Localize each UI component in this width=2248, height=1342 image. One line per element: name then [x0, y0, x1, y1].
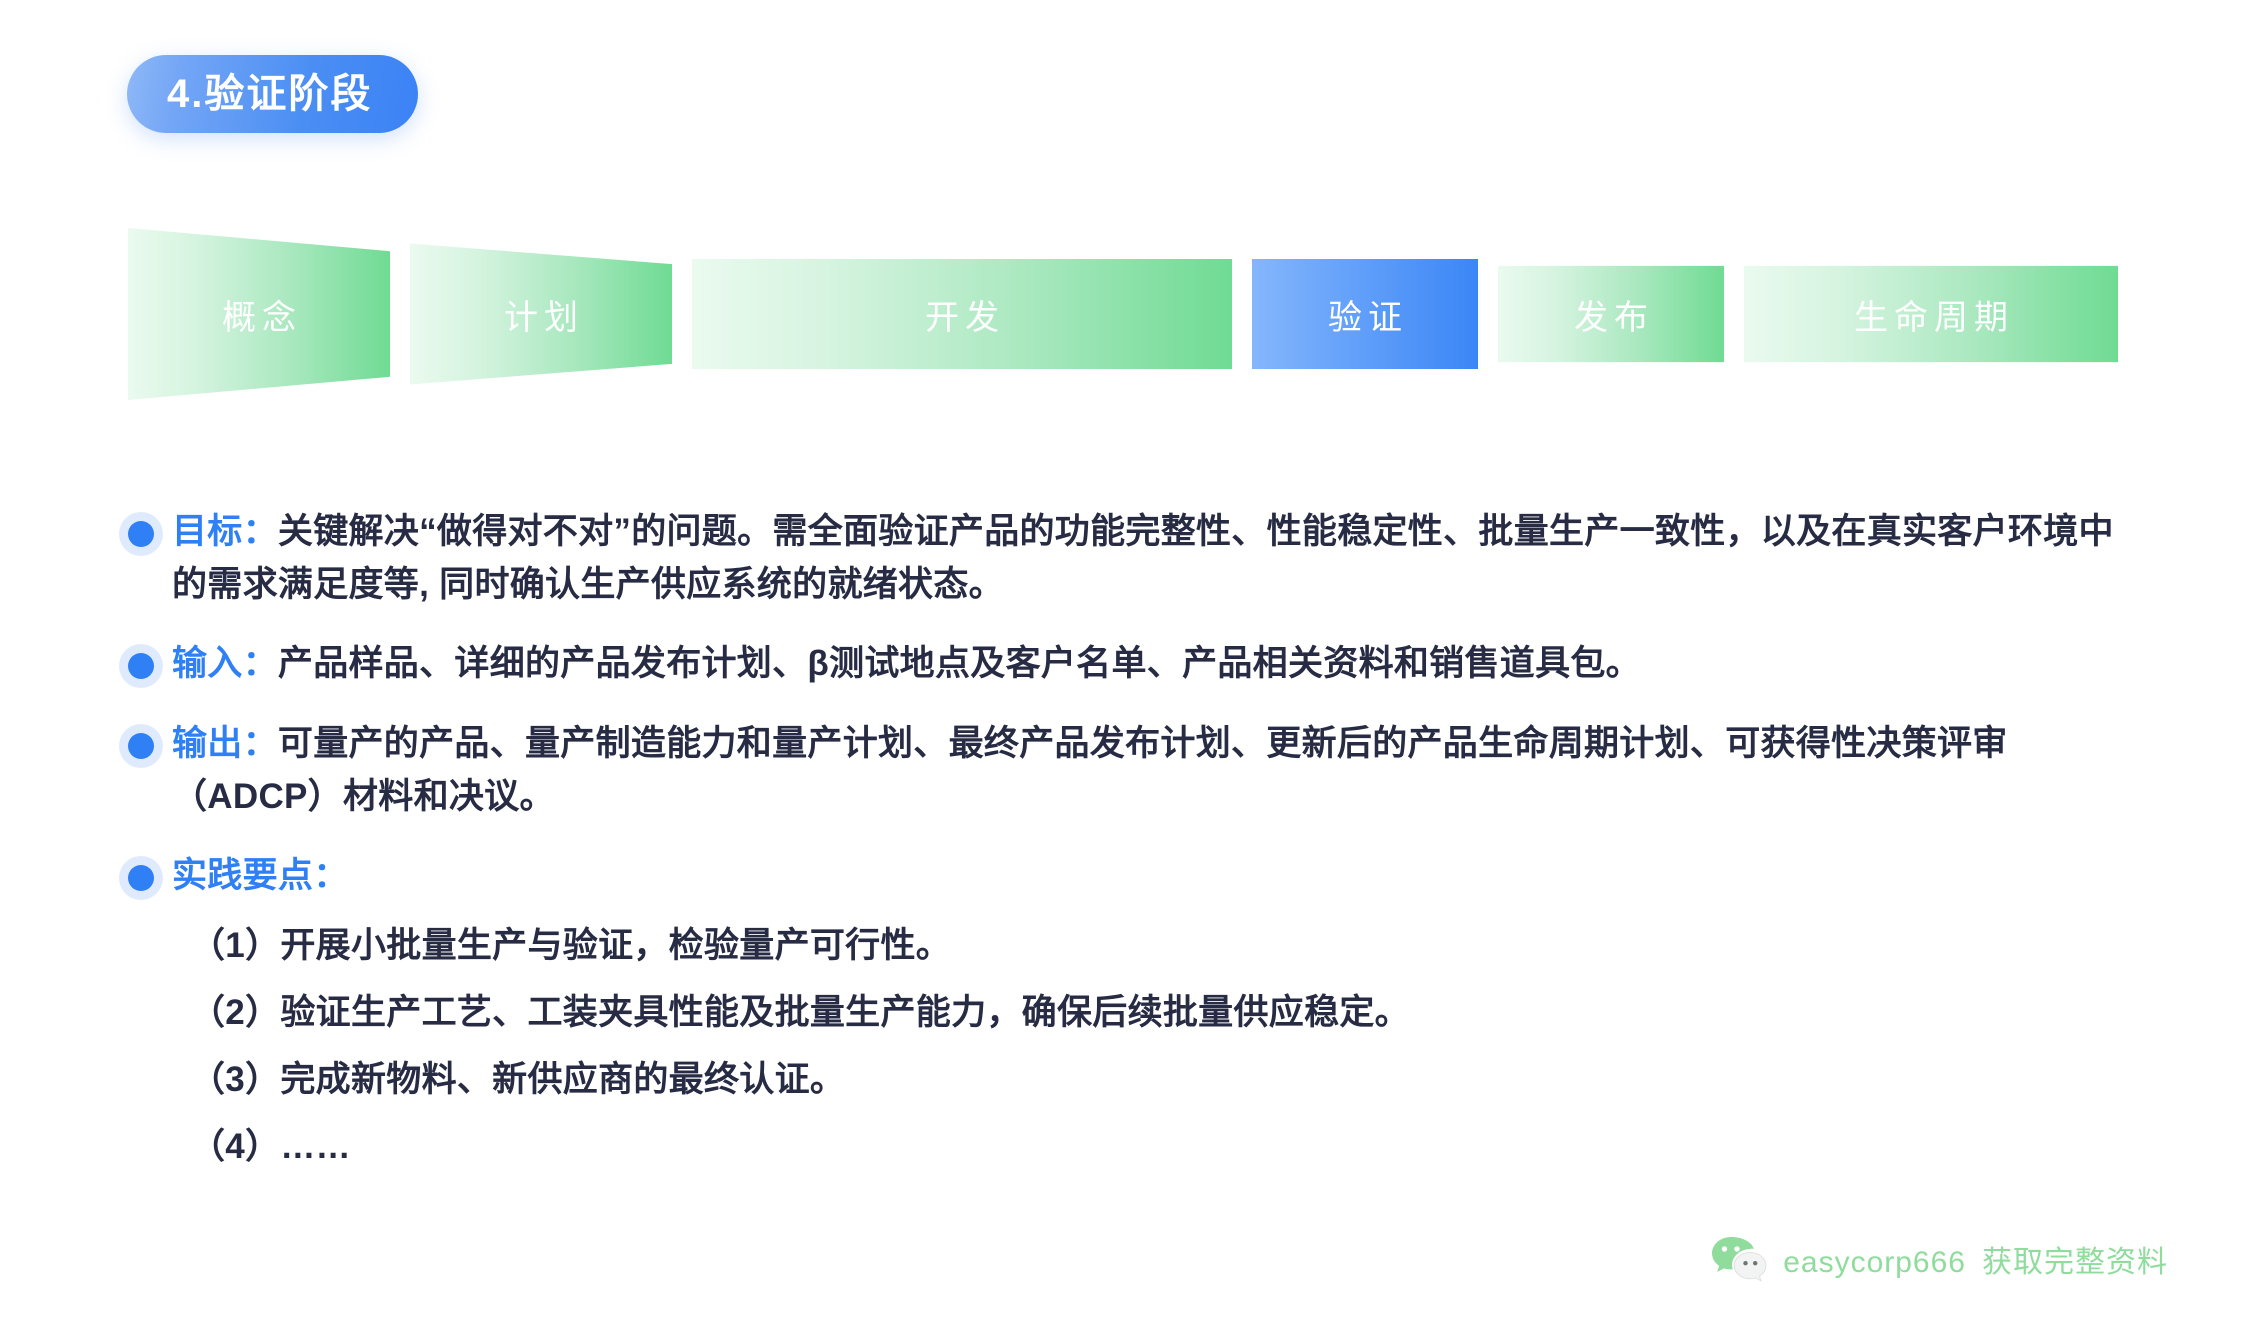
bullet-text: 实践要点： [172, 849, 2118, 902]
bullet-text: 目标：关键解决“做得对不对”的问题。需全面验证产品的功能完整性、性能稳定性、批量… [172, 505, 2118, 611]
practice-point-list: （1）开展小批量生产与验证，检验量产可行性。 （2）验证生产工艺、工装夹具性能及… [190, 928, 2118, 1164]
list-item: （3）完成新物料、新供应商的最终认证。 [190, 1062, 2118, 1097]
page-title-badge-wrapper: 4.验证阶段 [127, 55, 418, 133]
bullet-label: 输入： [172, 644, 278, 683]
bullet-text: 输入：产品样品、详细的产品发布计划、β测试地点及客户名单、产品相关资料和销售道具… [172, 637, 2118, 690]
page-title: 4.验证阶段 [167, 74, 372, 114]
bullet-dot-icon [128, 733, 154, 759]
flow-stage-concept[interactable]: 概念 [128, 228, 390, 400]
list-item: （1）开展小批量生产与验证，检验量产可行性。 [190, 928, 2118, 963]
bullet-dot-icon [128, 865, 154, 891]
flow-stage-label: 生命周期 [1848, 290, 2014, 339]
watermark-cta: 获取完整资料 [1982, 1246, 2168, 1279]
flow-stage-lifecycle[interactable]: 生命周期 [1744, 228, 2118, 400]
bullet-text: 输出：可量产的产品、量产制造能力和量产计划、最终产品发布计划、更新后的产品生命周… [172, 717, 2118, 823]
bullet-description: 关键解决“做得对不对”的问题。需全面验证产品的功能完整性、性能稳定性、批量生产一… [172, 512, 2114, 604]
list-item: （4）…… [190, 1129, 2118, 1164]
bullet-label: 输出： [172, 724, 278, 763]
watermark-handle: easycorp666 [1783, 1246, 1966, 1279]
bullet-practice-points: 实践要点： [128, 849, 2118, 902]
flow-stage-develop[interactable]: 开发 [692, 228, 1232, 400]
flow-stage-label: 计划 [498, 290, 584, 339]
list-item: （2）验证生产工艺、工装夹具性能及批量生产能力，确保后续批量供应稳定。 [190, 995, 2118, 1030]
bullet-label: 实践要点： [172, 856, 349, 895]
page-title-badge: 4.验证阶段 [127, 55, 418, 133]
flow-stage-label: 验证 [1322, 290, 1408, 339]
flow-stage-label: 发布 [1568, 290, 1654, 339]
bullet-input: 输入：产品样品、详细的产品发布计划、β测试地点及客户名单、产品相关资料和销售道具… [128, 637, 2118, 690]
watermark-text: easycorp666获取完整资料 [1783, 1237, 2168, 1281]
bullet-dot-icon [128, 521, 154, 547]
flow-stage-label: 开发 [919, 290, 1005, 339]
content-area: 目标：关键解决“做得对不对”的问题。需全面验证产品的功能完整性、性能稳定性、批量… [128, 505, 2118, 1196]
flow-stage-verify-active[interactable]: 验证 [1252, 228, 1478, 400]
wechat-icon [1711, 1234, 1767, 1284]
watermark: easycorp666获取完整资料 [1711, 1234, 2168, 1284]
bullet-objective: 目标：关键解决“做得对不对”的问题。需全面验证产品的功能完整性、性能稳定性、批量… [128, 505, 2118, 611]
bullet-description: 产品样品、详细的产品发布计划、β测试地点及客户名单、产品相关资料和销售道具包。 [278, 644, 1641, 683]
flow-stage-label: 概念 [216, 290, 302, 339]
process-flow-bar: 概念 计划 开发 验证 发布 生命周期 [128, 228, 2118, 400]
bullet-label: 目标： [172, 512, 278, 551]
bullet-output: 输出：可量产的产品、量产制造能力和量产计划、最终产品发布计划、更新后的产品生命周… [128, 717, 2118, 823]
flow-stage-plan[interactable]: 计划 [410, 228, 672, 400]
bullet-description: 可量产的产品、量产制造能力和量产计划、最终产品发布计划、更新后的产品生命周期计划… [172, 724, 2008, 816]
bullet-dot-icon [128, 653, 154, 679]
flow-stage-release[interactable]: 发布 [1498, 228, 1724, 400]
